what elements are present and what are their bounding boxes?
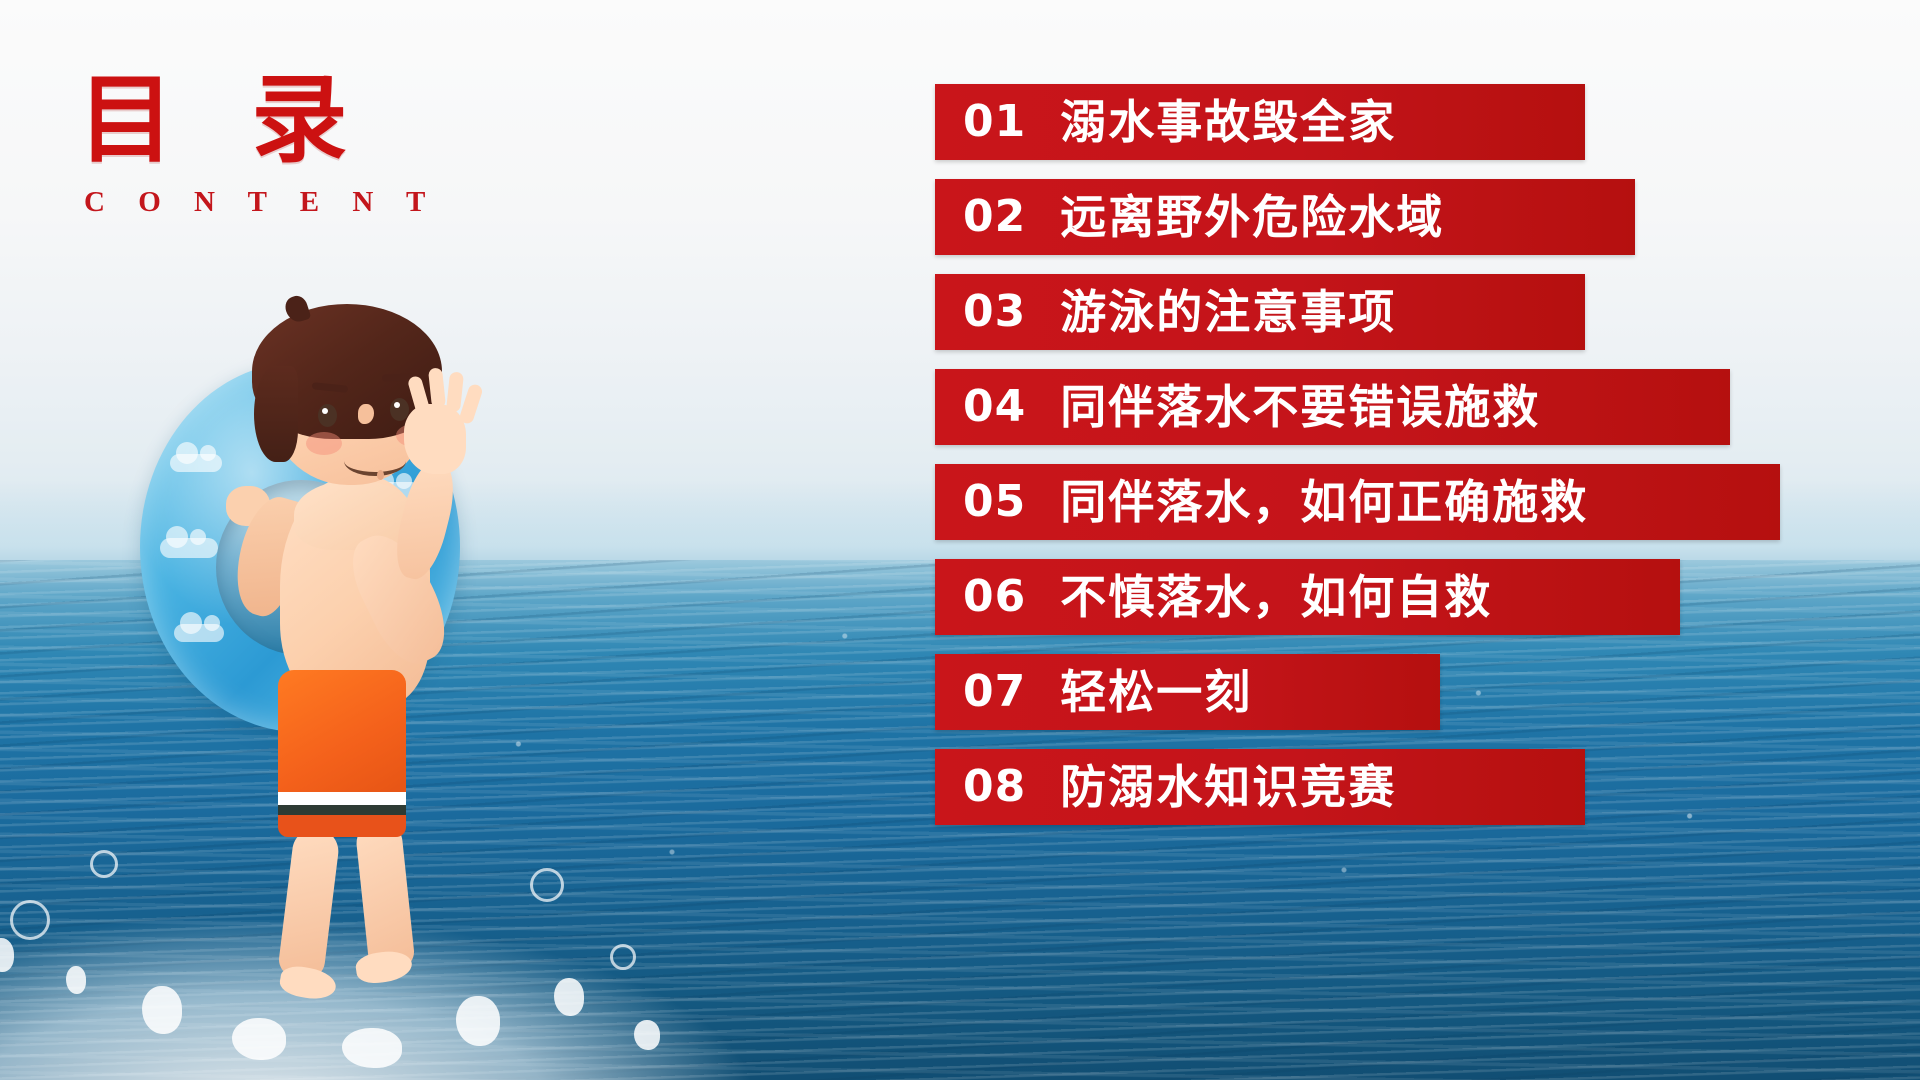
boy-illustration: [130, 300, 550, 920]
boy-waving-hand: [404, 404, 466, 474]
ring-cloud-pattern: [170, 454, 222, 472]
menu-item-label: 轻松一刻: [1060, 669, 1252, 715]
ring-cloud-pattern: [160, 538, 218, 558]
boy-right-eye-highlight: [394, 402, 400, 408]
boy-shoulder: [294, 480, 414, 550]
content-title-block: 目 录 C O N T E N T: [78, 72, 438, 217]
boy-chin-dot: [377, 470, 384, 480]
menu-item-number: 05: [963, 480, 1026, 524]
menu-item-label: 不慎落水，如何自救: [1060, 574, 1492, 620]
page-title-en: C O N T E N T: [84, 188, 438, 217]
menu-item-08[interactable]: 08 防溺水知识竞赛: [935, 749, 1585, 825]
boy-finger: [446, 371, 464, 412]
boy-left-eye: [318, 404, 337, 427]
shorts-dark-stripe: [278, 805, 406, 815]
menu-item-07[interactable]: 07 轻松一刻: [935, 654, 1440, 730]
menu-item-label: 溺水事故毁全家: [1060, 99, 1396, 145]
menu-item-06[interactable]: 06 不慎落水，如何自救: [935, 559, 1680, 635]
menu-item-label: 游泳的注意事项: [1060, 289, 1396, 335]
menu-item-number: 04: [963, 385, 1026, 429]
shorts-white-stripe: [278, 792, 406, 805]
menu-item-number: 03: [963, 290, 1026, 334]
menu-item-label: 防溺水知识竞赛: [1060, 764, 1396, 810]
menu-item-number: 02: [963, 195, 1026, 239]
shorts-hem: [278, 815, 406, 837]
slide-root: 目 录 C O N T E N T: [0, 0, 1920, 1080]
boy-mouth: [344, 446, 406, 476]
menu-item-number: 07: [963, 670, 1026, 714]
menu-item-label: 同伴落水不要错误施救: [1060, 384, 1540, 430]
boy-left-cheek: [306, 432, 342, 455]
page-title-cn: 目 录: [78, 72, 438, 168]
menu-item-04[interactable]: 04 同伴落水不要错误施救: [935, 369, 1730, 445]
menu-item-number: 08: [963, 765, 1026, 809]
menu-item-02[interactable]: 02 远离野外危险水域: [935, 179, 1635, 255]
boy-left-eye-highlight: [322, 408, 328, 414]
menu-item-number: 06: [963, 575, 1026, 619]
boy-finger: [428, 367, 446, 408]
menu-item-01[interactable]: 01 溺水事故毁全家: [935, 84, 1585, 160]
ring-cloud-pattern: [174, 624, 224, 642]
menu-item-number: 01: [963, 100, 1026, 144]
content-menu-list: 01 溺水事故毁全家 02 远离野外危险水域 03 游泳的注意事项 04 同伴落…: [935, 84, 1815, 844]
menu-item-label: 同伴落水，如何正确施救: [1060, 479, 1588, 525]
boy-hair-side: [254, 366, 298, 462]
menu-item-03[interactable]: 03 游泳的注意事项: [935, 274, 1585, 350]
menu-item-05[interactable]: 05 同伴落水，如何正确施救: [935, 464, 1780, 540]
menu-item-label: 远离野外危险水域: [1060, 194, 1444, 240]
